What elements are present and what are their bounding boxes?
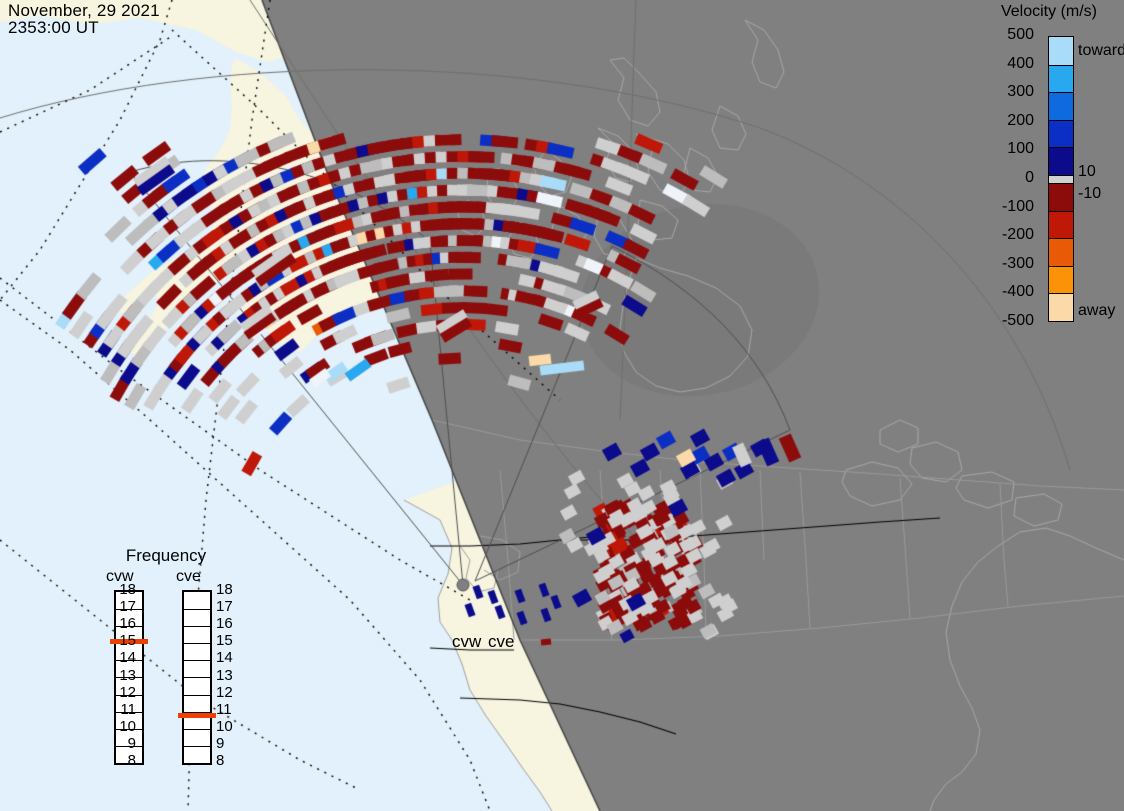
site-label-cvw: cvw	[452, 632, 481, 652]
radar-site-labels: cvwcve	[0, 0, 1124, 811]
site-label-cve: cve	[488, 632, 514, 652]
radar-map-screenshot: November, 29 2021 2353:00 UT Velocity (m…	[0, 0, 1124, 811]
